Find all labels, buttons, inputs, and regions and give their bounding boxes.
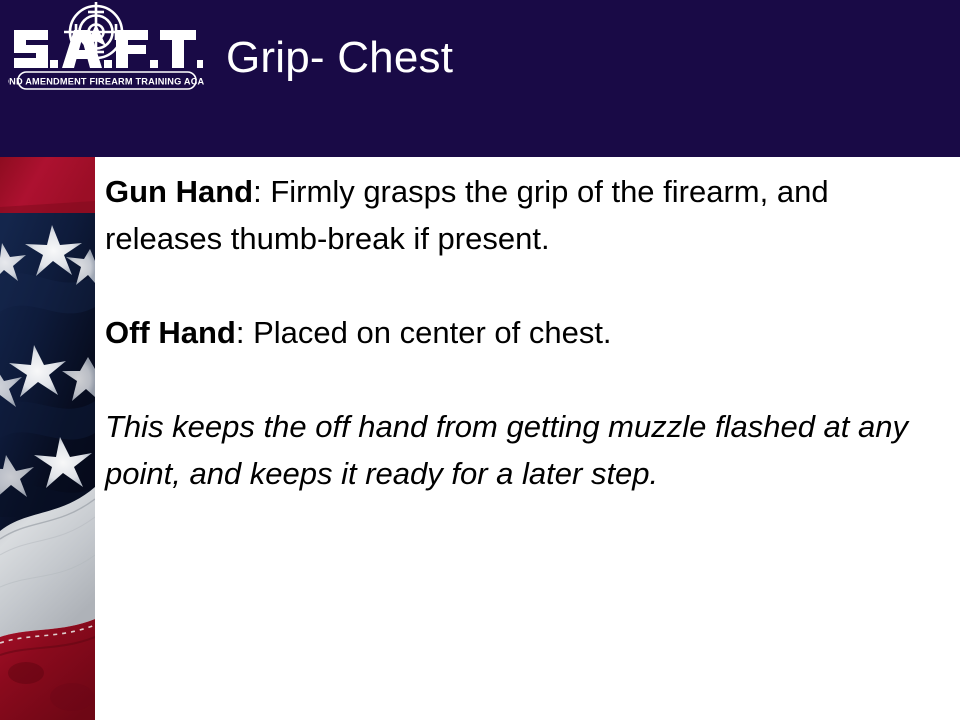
paragraph-text-note: This keeps the off hand from getting muz…: [105, 409, 908, 491]
paragraph-off-hand: Off Hand: Placed on center of chest.: [105, 309, 925, 356]
paragraph-lead-gun-hand: Gun Hand: [105, 174, 253, 209]
paragraph-lead-off-hand: Off Hand: [105, 315, 236, 350]
paragraph-separator-gun-hand: :: [253, 174, 270, 209]
paragraph-separator-off-hand: :: [236, 315, 253, 350]
paragraph-text-off-hand: Placed on center of chest.: [253, 315, 611, 350]
saft-logo: SECOND AMENDMENT FIREARM TRAINING ACADEM…: [8, 2, 204, 94]
slide-header-bar: SECOND AMENDMENT FIREARM TRAINING ACADEM…: [0, 0, 960, 157]
saft-tagline-mark: SECOND AMENDMENT FIREARM TRAINING ACADEM…: [8, 72, 204, 89]
saft-logo-graphic: SECOND AMENDMENT FIREARM TRAINING ACADEM…: [8, 2, 204, 94]
saft-tagline-text: SECOND AMENDMENT FIREARM TRAINING ACADEM…: [8, 77, 204, 87]
paragraph-gun-hand: Gun Hand: Firmly grasps the grip of the …: [105, 168, 925, 262]
slide-root: SECOND AMENDMENT FIREARM TRAINING ACADEM…: [0, 0, 960, 720]
saft-acronym-mark: [14, 30, 203, 68]
american-flag-graphic: [0, 157, 95, 720]
american-flag-image: [0, 157, 95, 720]
page-title: Grip- Chest: [226, 30, 453, 86]
slide-body: Gun Hand: Firmly grasps the grip of the …: [105, 168, 925, 497]
paragraph-note: This keeps the off hand from getting muz…: [105, 403, 925, 497]
